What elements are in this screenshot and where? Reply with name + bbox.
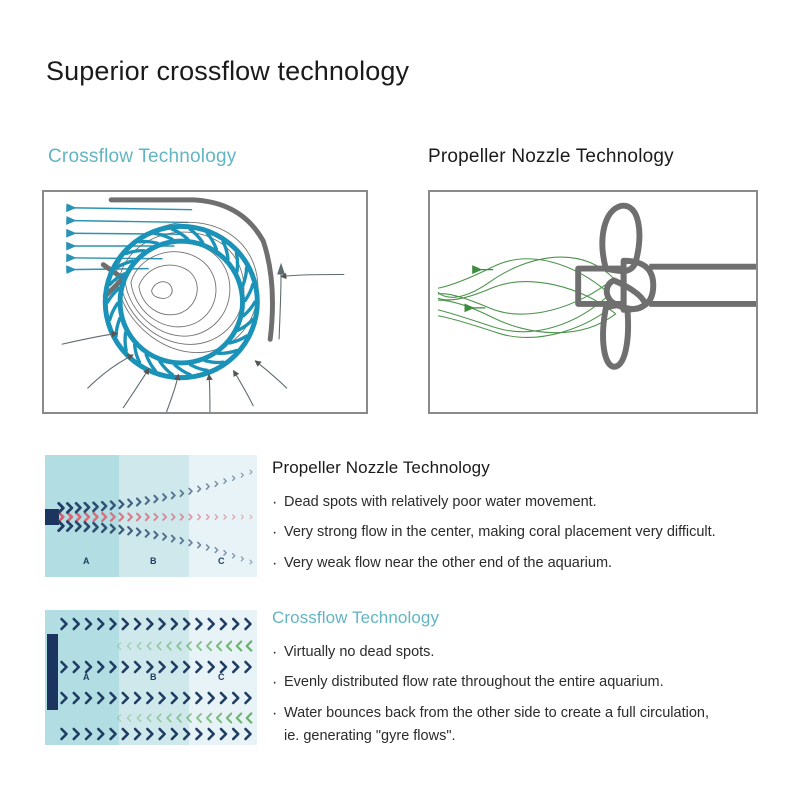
flow-chevron — [157, 714, 161, 721]
flow-chevron — [172, 514, 175, 520]
flow-chevron — [221, 662, 226, 672]
flow-chevron — [93, 503, 97, 511]
flow-chevron — [154, 496, 157, 503]
flow-chevron — [246, 619, 251, 629]
flow-chevron — [86, 693, 91, 703]
flow-chevron — [160, 662, 165, 672]
flow-chevron — [85, 503, 89, 511]
flow-chevron — [62, 729, 67, 739]
impeller-blades — [108, 229, 255, 374]
flow-chevron — [123, 662, 128, 672]
crossflow-text-block: Crossflow Technology Virtually no dead s… — [272, 608, 792, 756]
list-item: Very strong flow in the center, making c… — [272, 521, 792, 544]
flow-chevron — [189, 514, 192, 519]
list-item-line2: ie. generating "gyre flows". — [284, 725, 792, 748]
flow-chevron — [227, 714, 231, 723]
crossflow-flow-panel: A B C — [45, 610, 257, 745]
list-item-line1: Water bounces back from the other side t… — [284, 705, 709, 721]
flow-chevron — [76, 503, 80, 512]
flow-chevron — [198, 542, 201, 547]
flow-chevron — [221, 619, 226, 629]
crossflow-text-heading: Crossflow Technology — [272, 608, 792, 628]
flow-chevron — [135, 729, 140, 739]
flow-chevron — [196, 693, 201, 703]
flow-chevron — [163, 514, 166, 520]
flow-chevron — [111, 729, 116, 739]
flow-chevron — [147, 729, 152, 739]
flow-chevron — [123, 619, 128, 629]
flow-chevron — [189, 489, 192, 495]
flow-chevron — [217, 642, 221, 651]
flow-chevron — [117, 715, 120, 721]
flow-chevron — [224, 479, 226, 484]
flow-chevron — [237, 642, 241, 651]
flow-chevron — [86, 729, 91, 739]
flow-chevron — [233, 515, 235, 519]
flow-chevron — [147, 714, 151, 721]
flow-chevron — [184, 619, 189, 629]
flow-chevron — [147, 619, 152, 629]
flow-chevron — [111, 525, 115, 533]
flow-chevron — [233, 729, 238, 739]
zone-label-b: B — [150, 556, 157, 566]
flow-chevron — [167, 642, 171, 649]
flow-chevron — [221, 729, 226, 739]
zone-label-c: C — [218, 556, 225, 566]
flow-chevron — [177, 714, 181, 722]
flow-chevron — [111, 513, 115, 520]
flow-chevron — [111, 619, 116, 629]
flow-chevron — [184, 729, 189, 739]
return-arrow — [281, 275, 344, 277]
flow-chevron — [127, 715, 130, 722]
flow-chevron — [215, 515, 217, 520]
propeller-nozzle-diagram — [428, 190, 758, 414]
flow-chevron — [120, 526, 124, 533]
flow-chevron — [98, 693, 103, 703]
flow-chevron — [187, 642, 191, 650]
impeller-blade — [236, 253, 237, 271]
flow-chevron — [246, 662, 251, 672]
flow-chevron — [246, 693, 251, 703]
flow-chevron — [198, 486, 201, 491]
flow-chevron — [180, 491, 183, 497]
list-item: Dead spots with relatively poor water mo… — [272, 491, 792, 514]
flow-chevron — [181, 514, 184, 519]
flow-chevron — [241, 473, 243, 477]
flow-chevron — [177, 642, 181, 650]
list-item: Very weak flow near the other end of the… — [272, 552, 792, 575]
flow-chevron — [85, 513, 89, 521]
flow-chevron — [123, 693, 128, 703]
flow-chevron — [74, 619, 79, 629]
flow-chevron — [247, 713, 252, 722]
flow-chevron — [137, 514, 140, 521]
flow-chevron — [233, 693, 238, 703]
flow-chevron — [197, 714, 201, 722]
flow-chevron — [85, 522, 89, 530]
flow-chevron — [207, 515, 209, 520]
flow-chevron — [123, 729, 128, 739]
flow-chevron — [172, 492, 175, 498]
impeller-blade — [110, 303, 118, 319]
flow-chevron — [154, 514, 157, 520]
flow-chevron — [167, 714, 171, 721]
flow-chevron — [184, 662, 189, 672]
zone-label-a: A — [83, 672, 90, 682]
flow-chevron — [135, 662, 140, 672]
flow-chevron — [233, 662, 238, 672]
flow-chevron — [102, 502, 106, 510]
return-arrow-head — [277, 263, 285, 275]
flow-chevron — [172, 693, 177, 703]
list-item: Water bounces back from the other side t… — [272, 702, 792, 749]
list-item: Virtually no dead spots. — [272, 641, 792, 664]
flow-chevron — [154, 532, 157, 539]
flow-chevron — [163, 494, 166, 500]
flow-chevron — [59, 513, 63, 522]
propeller-text-block: Propeller Nozzle Technology Dead spots w… — [272, 458, 792, 582]
list-item: Evenly distributed flow rate throughout … — [272, 671, 792, 694]
flow-chevron — [241, 515, 243, 519]
impeller-blade — [125, 333, 126, 351]
crossflow-diagram-svg — [44, 192, 366, 412]
flow-chevron — [62, 662, 67, 672]
flow-chevron — [207, 545, 210, 550]
flow-chevron — [74, 662, 79, 672]
flow-chevron — [217, 714, 221, 723]
flow-chevron — [233, 554, 235, 558]
flow-chevron — [67, 503, 71, 512]
flow-chevron — [233, 476, 235, 480]
flow-chevron — [120, 501, 124, 508]
flow-chevron — [111, 501, 115, 509]
chevron-group — [59, 470, 252, 564]
flow-chevron — [93, 523, 97, 531]
flow-chevron — [135, 693, 140, 703]
flow-chevron — [172, 619, 177, 629]
flow-chevron — [86, 662, 91, 672]
flow-chevron — [98, 729, 103, 739]
flow-chevron — [241, 557, 243, 561]
propeller-assembly — [578, 206, 756, 367]
flow-chevron — [189, 540, 192, 546]
propeller-flow-panel: A B C — [45, 455, 257, 577]
flow-chevron — [74, 693, 79, 703]
flow-chevron — [117, 643, 120, 649]
flow-chevron — [62, 693, 67, 703]
impeller-blade — [205, 361, 223, 363]
flow-chevron — [163, 534, 166, 540]
flow-chevron — [227, 642, 231, 651]
flow-chevron — [237, 714, 241, 723]
flow-chevron — [59, 521, 64, 530]
flow-chevron — [137, 643, 140, 650]
flow-chevron — [197, 642, 201, 650]
flow-chevron — [147, 693, 152, 703]
flow-chevron — [111, 693, 116, 703]
flow-chevron — [250, 515, 252, 519]
heading-propeller-nozzle-technology: Propeller Nozzle Technology — [428, 146, 674, 168]
flow-chevron — [135, 619, 140, 629]
flow-chevron — [198, 514, 201, 519]
flow-chevron — [207, 714, 211, 722]
flow-chevron — [94, 513, 98, 521]
flow-chevron — [67, 522, 71, 531]
flow-chevron — [196, 662, 201, 672]
flow-chevron — [187, 714, 191, 722]
flow-chevron — [196, 619, 201, 629]
flow-chevron — [207, 484, 210, 489]
flow-chevron — [221, 693, 226, 703]
flow-chevron — [137, 715, 140, 722]
flow-chevron — [172, 729, 177, 739]
flow-chevron — [127, 643, 130, 650]
flow-chevron — [147, 662, 152, 672]
flow-chevron — [146, 514, 149, 520]
page-title: Superior crossflow technology — [46, 56, 409, 87]
flow-chevron — [209, 662, 214, 672]
zone-label-b: B — [150, 672, 157, 682]
flow-chevron — [172, 536, 175, 542]
impeller-blade — [245, 285, 253, 301]
flow-chevron — [98, 619, 103, 629]
flow-chevron — [160, 729, 165, 739]
flow-chevron — [147, 642, 151, 649]
propeller-text-heading: Propeller Nozzle Technology — [272, 458, 792, 478]
impeller-blade — [175, 365, 190, 375]
flow-chevron — [196, 729, 201, 739]
flow-chevron — [160, 693, 165, 703]
flow-chevron — [209, 693, 214, 703]
flow-chevron — [59, 503, 64, 512]
crossflow-impeller-diagram — [42, 190, 368, 414]
flow-chevron — [160, 619, 165, 629]
propeller-bullet-list: Dead spots with relatively poor water mo… — [272, 491, 792, 575]
flow-chevron — [102, 513, 106, 521]
crossflow-bullet-list: Virtually no dead spots. Evenly distribu… — [272, 641, 792, 749]
flow-chevron — [128, 527, 132, 534]
pump-bar — [47, 634, 58, 710]
flow-chevron — [157, 642, 161, 649]
flow-chevron — [215, 548, 217, 553]
page-root: Superior crossflow technology Crossflow … — [0, 0, 800, 800]
inflow-arrows — [62, 333, 287, 412]
flow-chevron — [180, 538, 183, 544]
flow-chevron — [184, 693, 189, 703]
impeller-ring — [105, 226, 257, 377]
flow-chevron — [224, 551, 226, 556]
flow-chevron — [247, 641, 252, 650]
flow-chevron — [250, 560, 252, 564]
heading-crossflow-technology: Crossflow Technology — [48, 146, 236, 168]
flow-chevron — [233, 619, 238, 629]
flow-chevron — [137, 529, 140, 536]
flow-chevron — [62, 619, 67, 629]
zone-label-a: A — [83, 556, 90, 566]
flow-chevron — [76, 513, 80, 521]
impeller-blade — [190, 365, 207, 371]
flow-chevron — [246, 729, 251, 739]
flow-chevron — [250, 470, 252, 474]
flow-chevron — [86, 619, 91, 629]
flow-chevron — [209, 729, 214, 739]
flow-chevron — [224, 515, 226, 519]
flow-chevron — [146, 530, 149, 537]
flow-chevron — [67, 513, 71, 522]
flow-chevron — [76, 522, 80, 531]
pump-outlet-block — [45, 509, 59, 525]
impeller-blade — [140, 242, 158, 244]
flow-chevron — [207, 642, 211, 650]
flow-chevron — [215, 482, 217, 487]
zone-label-c: C — [218, 672, 225, 682]
propeller-diagram-svg — [430, 192, 756, 412]
flow-chevron — [98, 662, 103, 672]
flow-chevron — [74, 729, 79, 739]
flow-chevron — [111, 662, 116, 672]
flow-chevron — [128, 514, 131, 521]
flow-chevron — [102, 524, 106, 532]
impeller-blade — [243, 268, 247, 285]
flow-chevron — [137, 498, 140, 505]
flow-chevron — [128, 500, 132, 507]
flow-chevron — [146, 497, 149, 504]
flow-chevron — [120, 513, 124, 520]
flow-chevron — [209, 619, 214, 629]
flow-chevron — [172, 662, 177, 672]
return-arrow-line — [279, 273, 281, 340]
